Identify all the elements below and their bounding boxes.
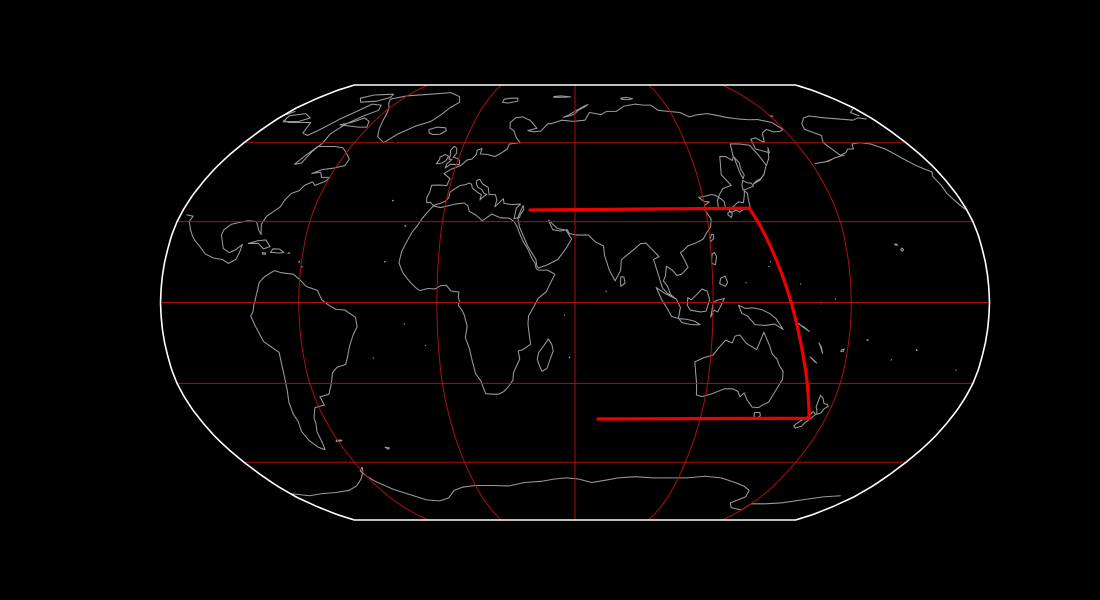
map-background — [0, 0, 1100, 600]
map-figure: Robinson Projection QM05 to RE66HO (157°… — [0, 0, 1100, 600]
robinson-map — [0, 0, 1100, 600]
